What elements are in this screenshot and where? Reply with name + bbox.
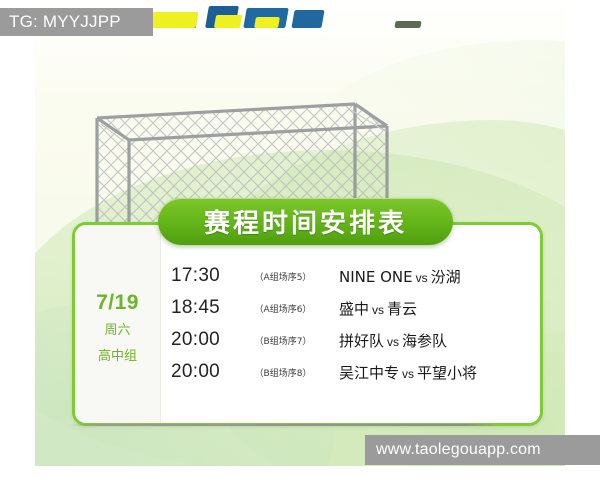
footer-divider (70, 424, 500, 426)
vs-label: vs (413, 271, 431, 285)
match-teams: 拼好队vs海参队 (331, 330, 534, 351)
poster-image: 赛程时间安排表 7/19 周六 高中组 17:30 （A组场序5） NINE O… (35, 0, 565, 466)
schedule-card: 7/19 周六 高中组 17:30 （A组场序5） NINE ONEvs汾湖 1… (72, 222, 543, 426)
headline-fragment-blue-4 (394, 21, 421, 28)
table-row: 20:00 （B组场序7） 拼好队vs海参队 (171, 324, 534, 356)
schedule-group: 高中组 (98, 350, 137, 363)
schedule-title-banner: 赛程时间安排表 (158, 198, 453, 245)
match-time: 20:00 (171, 361, 235, 383)
match-teams: 吴江中专vs平望小将 (331, 362, 534, 383)
screenshot-root: 赛程时间安排表 7/19 周六 高中组 17:30 （A组场序5） NINE O… (0, 0, 600, 480)
watermark-bottom-right-text: www.taolegouapp.com (376, 441, 541, 459)
schedule-title-text: 赛程时间安排表 (204, 203, 407, 240)
watermark-bottom-right: www.taolegouapp.com (365, 435, 600, 465)
away-team: 青云 (387, 300, 417, 318)
away-team: 平望小将 (417, 364, 477, 382)
table-row: 20:00 （B组场序8） 吴江中专vs平望小将 (171, 356, 534, 388)
vs-label: vs (384, 335, 402, 349)
vs-label: vs (369, 303, 387, 317)
home-team: 吴江中专 (339, 364, 399, 382)
schedule-weekday: 周六 (104, 324, 130, 337)
headline-fragment-blue-3 (291, 10, 324, 28)
vs-label: vs (399, 367, 417, 381)
home-team: NINE ONE (339, 268, 413, 286)
home-team: 拼好队 (339, 332, 384, 350)
match-teams: 盛中vs青云 (331, 298, 534, 319)
match-slot: （A组场序5） (235, 270, 331, 283)
watermark-top-left-text: TG: MYYJJPP (9, 12, 121, 32)
match-time: 20:00 (171, 329, 235, 351)
watermark-top-left: TG: MYYJJPP (0, 8, 153, 36)
match-slot: （B组场序8） (235, 366, 331, 379)
match-slot: （B组场序7） (235, 334, 331, 347)
bottom-margin (0, 466, 600, 480)
schedule-date: 7/19 (96, 292, 139, 313)
table-row: 18:45 （A组场序6） 盛中vs青云 (171, 292, 534, 324)
date-column: 7/19 周六 高中组 (75, 225, 161, 423)
match-time: 18:45 (171, 297, 235, 319)
match-teams: NINE ONEvs汾湖 (331, 266, 534, 287)
away-team: 海参队 (402, 332, 447, 350)
headline-fragment-yellow-2 (214, 15, 242, 28)
home-team: 盛中 (339, 300, 369, 318)
match-list: 17:30 （A组场序5） NINE ONEvs汾湖 18:45 （A组场序6）… (161, 225, 540, 423)
table-row: 17:30 （A组场序5） NINE ONEvs汾湖 (171, 260, 534, 292)
match-slot: （A组场序6） (235, 302, 331, 315)
away-team: 汾湖 (431, 268, 461, 286)
match-time: 17:30 (171, 265, 235, 287)
headline-fragment-yellow-3 (254, 17, 280, 28)
